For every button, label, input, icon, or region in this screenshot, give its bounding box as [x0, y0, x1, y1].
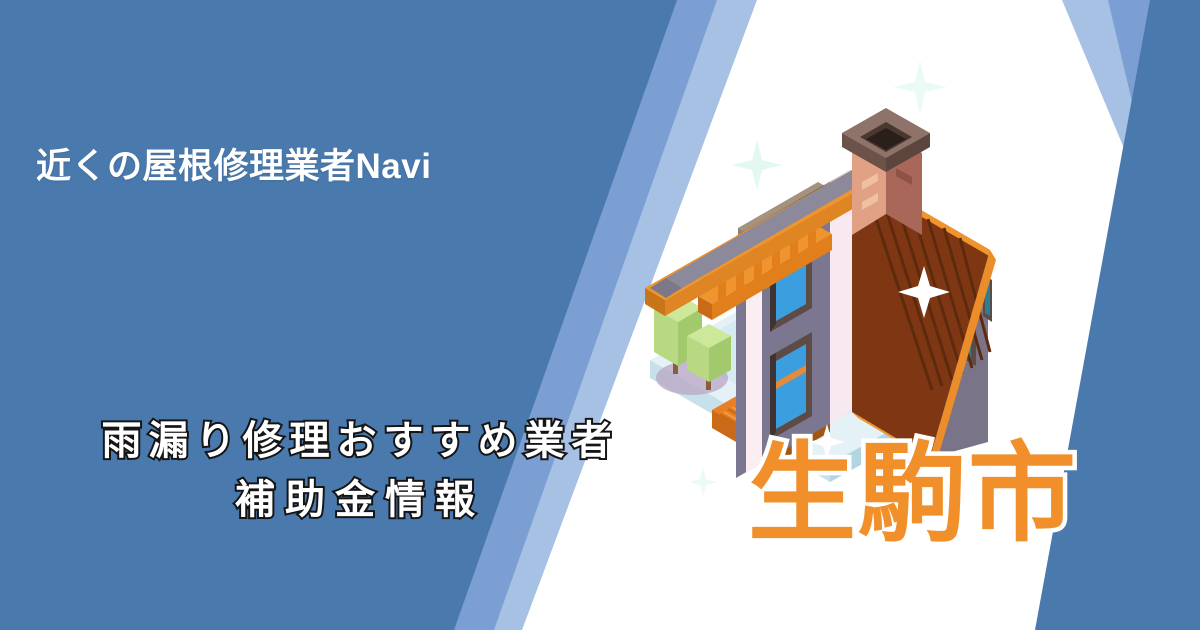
headline-line-1: 雨漏り修理おすすめ業者: [40, 412, 680, 471]
headline-line-2: 補助金情報: [40, 471, 680, 530]
brand-title: 近くの屋根修理業者Navi: [36, 138, 431, 189]
city-name: 生駒市: [748, 440, 1078, 548]
headline: 雨漏り修理おすすめ業者 補助金情報: [40, 412, 680, 530]
isometric-house-illustration: [640, 60, 1060, 490]
banner-canvas: 近くの屋根修理業者Navi 雨漏り修理おすすめ業者 補助金情報 生駒市: [0, 0, 1200, 630]
